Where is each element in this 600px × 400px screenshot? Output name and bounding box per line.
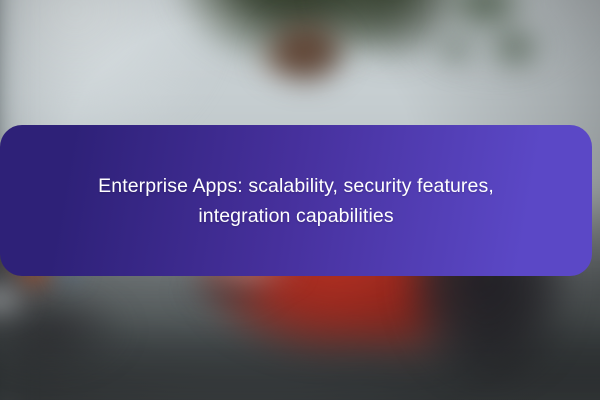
banner-title: Enterprise Apps: scalability, security f…: [98, 171, 494, 231]
headline-banner: Enterprise Apps: scalability, security f…: [0, 125, 592, 276]
screenshot-canvas: Enterprise Apps: scalability, security f…: [0, 0, 600, 400]
